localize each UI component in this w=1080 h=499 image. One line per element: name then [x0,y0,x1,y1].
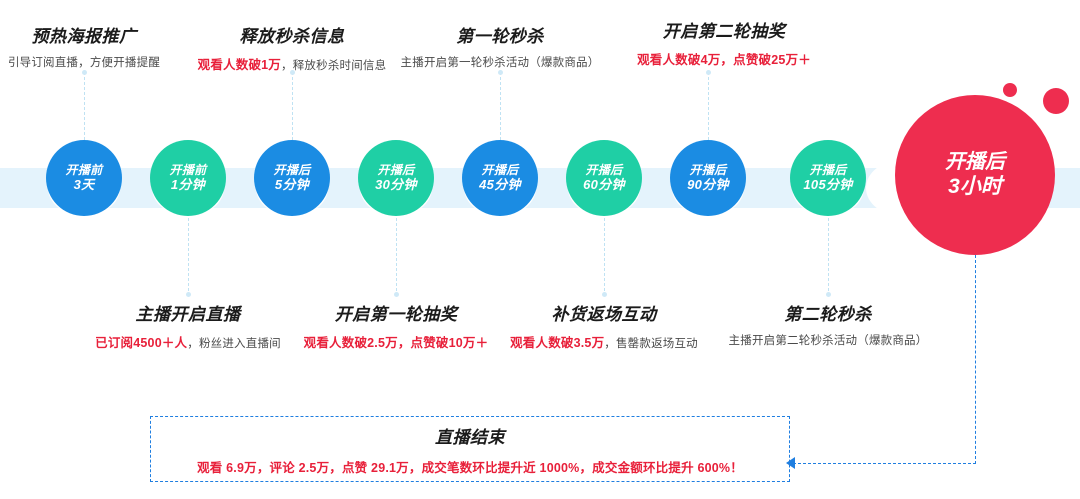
leader-line [396,218,397,296]
caption-highlight: 已订阅4500＋人 [95,336,187,350]
node-label-secondary: 5分钟 [275,177,309,192]
node-label-primary: 开播后 [482,163,519,177]
timeline-node-1[interactable]: 开播前3天 [46,140,122,216]
leader-line [708,72,709,140]
timeline-node-3[interactable]: 开播后5分钟 [254,140,330,216]
leader-dot [186,292,191,297]
leader-dot [82,70,87,75]
summary-box: 直播结束 观看 6.9万，评论 2.5万，点赞 29.1万，成交笔数环比提升近 … [150,416,790,482]
leader-dot [706,70,711,75]
caption-subtitle: 观看人数破4万，点赞破25万＋ [524,49,924,68]
leader-dot [826,292,831,297]
timeline-node-8[interactable]: 开播后105分钟 [790,140,866,216]
node-label-secondary: 1分钟 [171,177,205,192]
summary-title: 直播结束 [435,423,505,448]
node-label-primary: 开播前 [170,163,207,177]
caption-highlight: 观看人数破3.5万 [510,336,604,350]
bubble-2 [1043,88,1069,114]
node-label-secondary: 105分钟 [803,177,852,192]
timeline-node-7[interactable]: 开播后90分钟 [670,140,746,216]
final-node-line2: 3小时 [948,174,1002,199]
node-label-secondary: 3天 [74,177,95,192]
leader-line [828,218,829,296]
caption-title: 第二轮秒杀 [628,300,1028,325]
node-label-primary: 开播后 [690,163,727,177]
summary-text: 观看 6.9万，评论 2.5万，点赞 29.1万，成交笔数环比提升近 1000%… [197,457,743,476]
final-milestone-node[interactable]: 开播后 3小时 [895,95,1055,255]
node-label-secondary: 90分钟 [687,177,729,192]
timeline-node-2[interactable]: 开播前1分钟 [150,140,226,216]
timeline-infographic: 开播前3天开播前1分钟开播后5分钟开播后30分钟开播后45分钟开播后60分钟开播… [0,0,1080,499]
timeline-node-6[interactable]: 开播后60分钟 [566,140,642,216]
timeline-node-5[interactable]: 开播后45分钟 [462,140,538,216]
connector-horizontal [793,463,976,464]
leader-dot [602,292,607,297]
final-node-line1: 开播后 [945,150,1005,174]
timeline-node-4[interactable]: 开播后30分钟 [358,140,434,216]
leader-dot [394,292,399,297]
node-label-secondary: 30分钟 [375,177,417,192]
leader-line [188,218,189,296]
bubble-1 [1003,83,1017,97]
caption-title: 开启第二轮抽奖 [524,17,924,42]
node-label-secondary: 45分钟 [479,177,521,192]
bottom-caption-4: 第二轮秒杀主播开启第二轮秒杀活动（爆款商品） [628,300,1028,348]
leader-line [84,72,85,140]
caption-highlight: 观看人数破4万，点赞破25万＋ [637,53,811,67]
connector-vertical [975,255,976,464]
leader-dot [498,70,503,75]
leader-line [292,72,293,140]
node-label-primary: 开播后 [586,163,623,177]
node-label-primary: 开播后 [274,163,311,177]
leader-line [604,218,605,296]
top-caption-4: 开启第二轮抽奖观看人数破4万，点赞破25万＋ [524,17,924,68]
node-label-primary: 开播后 [378,163,415,177]
node-label-secondary: 60分钟 [583,177,625,192]
leader-line [500,72,501,140]
caption-highlight: 观看人数破1万 [198,58,281,72]
caption-subtitle: 主播开启第二轮秒杀活动（爆款商品） [628,332,1028,348]
node-label-primary: 开播前 [66,163,103,177]
node-label-primary: 开播后 [810,163,847,177]
